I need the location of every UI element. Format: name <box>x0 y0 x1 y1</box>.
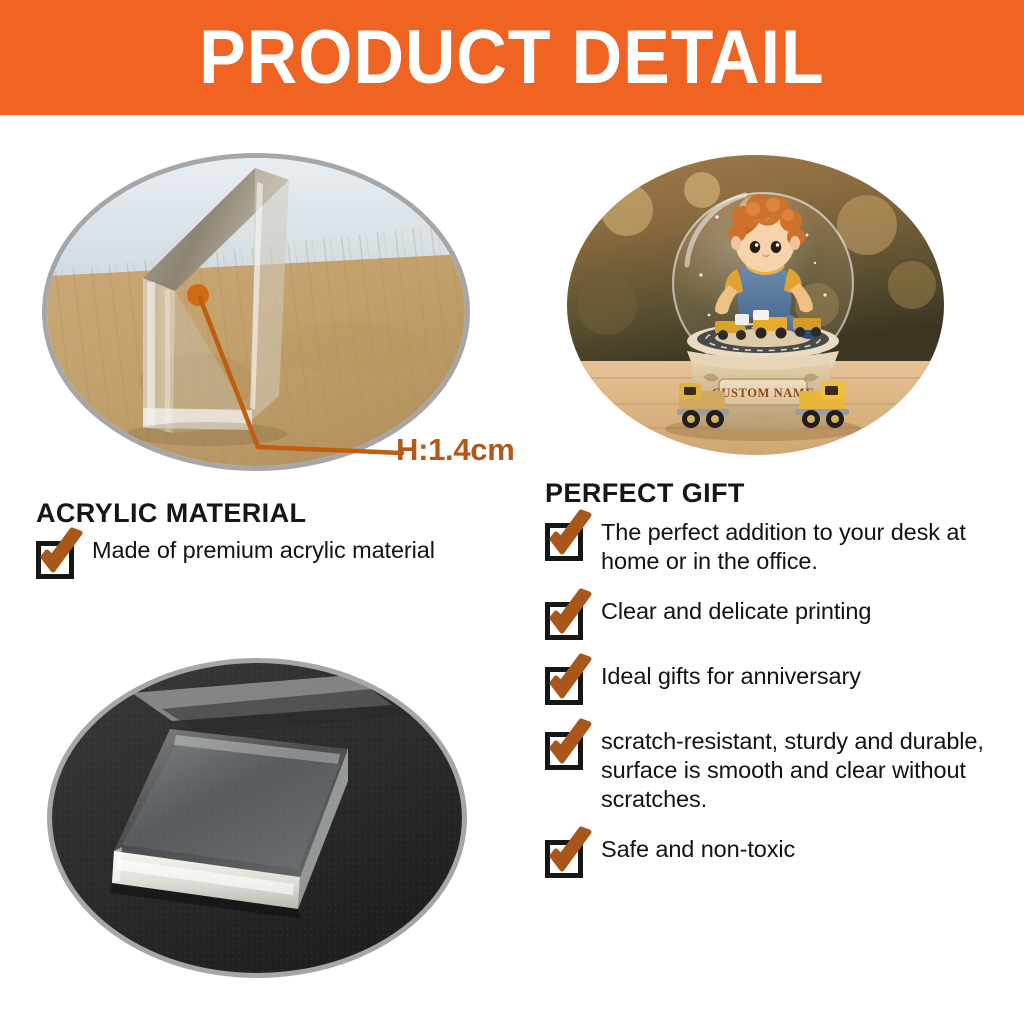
list-item[interactable]: Ideal gifts for anniversary <box>545 662 1015 705</box>
header-banner: PRODUCT DETAIL <box>0 0 1024 115</box>
acrylic-edge-illustration <box>47 158 465 466</box>
dimension-label: H:1.4cm <box>396 432 515 468</box>
custom-name-plaque-text: CUSTOM NAME <box>712 386 815 400</box>
list-item-label: The perfect addition to your desk at hom… <box>601 518 1015 575</box>
snow-globe-illustration: CUSTOM NAME <box>567 155 944 455</box>
list-item-label: Made of premium acrylic material <box>92 536 435 565</box>
list-item-label: Safe and non-toxic <box>601 835 795 864</box>
section-heading-perfect-gift: PERFECT GIFT <box>545 478 745 509</box>
checkbox-checked-icon[interactable] <box>545 667 583 705</box>
checkbox-checked-icon[interactable] <box>545 840 583 878</box>
list-item[interactable]: Safe and non-toxic <box>545 835 1015 878</box>
acrylic-edge-photo <box>42 153 470 471</box>
checkmark-icon <box>34 530 86 580</box>
page-title: PRODUCT DETAIL <box>199 20 824 96</box>
checkbox-checked-icon[interactable] <box>545 732 583 770</box>
acrylic-block-illustration <box>52 663 462 973</box>
checkmark-icon <box>543 591 595 641</box>
list-item-label: Clear and delicate printing <box>601 597 871 626</box>
list-item-label: Ideal gifts for anniversary <box>601 662 861 691</box>
snow-globe-photo: CUSTOM NAME <box>567 155 944 455</box>
checkbox-checked-icon[interactable] <box>545 523 583 561</box>
list-item[interactable]: Clear and delicate printing <box>545 597 1015 640</box>
feature-list-perfect-gift: The perfect addition to your desk at hom… <box>545 518 1015 900</box>
checkmark-icon <box>543 512 595 562</box>
list-item[interactable]: The perfect addition to your desk at hom… <box>545 518 1015 575</box>
section-heading-acrylic-material: ACRYLIC MATERIAL <box>36 498 306 529</box>
checkmark-icon <box>543 829 595 879</box>
feature-list-acrylic-material: Made of premium acrylic material <box>36 536 516 605</box>
checkmark-icon <box>543 656 595 706</box>
checkbox-checked-icon[interactable] <box>36 541 74 579</box>
acrylic-block-photo <box>47 658 467 978</box>
list-item[interactable]: Made of premium acrylic material <box>36 536 516 579</box>
list-item[interactable]: scratch-resistant, sturdy and durable, s… <box>545 727 1015 813</box>
checkmark-icon <box>543 721 595 771</box>
checkbox-checked-icon[interactable] <box>545 602 583 640</box>
list-item-label: scratch-resistant, sturdy and durable, s… <box>601 727 1015 813</box>
